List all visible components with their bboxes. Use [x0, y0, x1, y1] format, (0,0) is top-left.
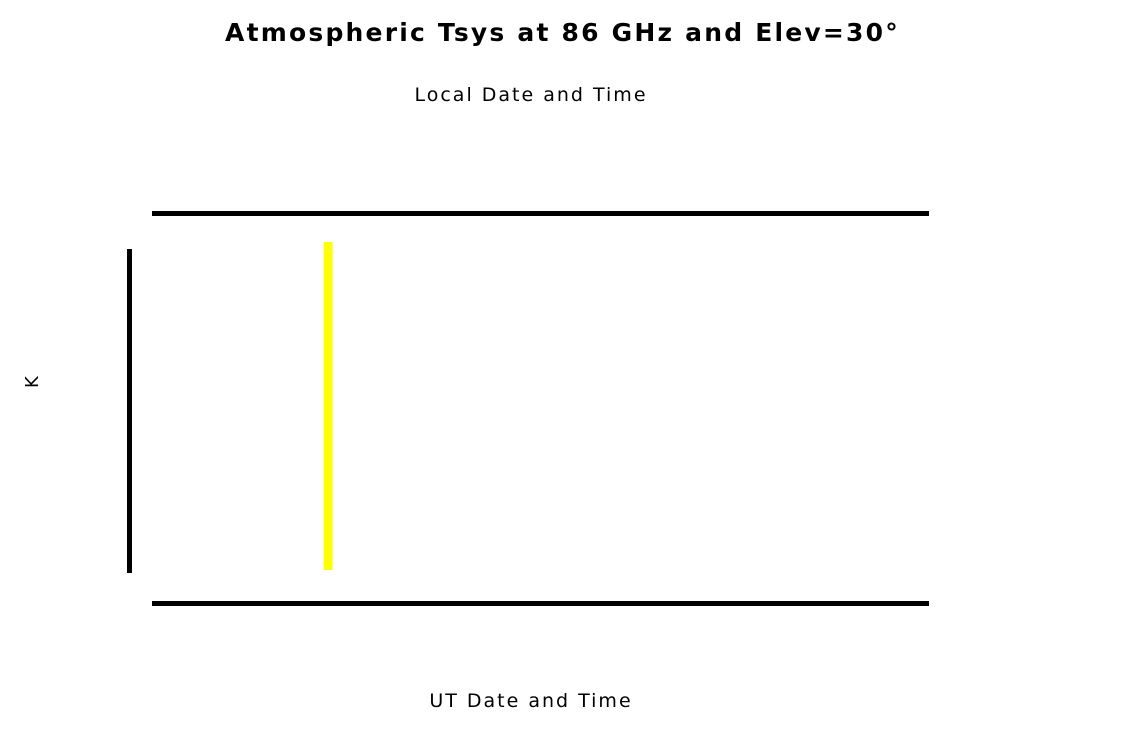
- top-axis-line: [152, 211, 929, 216]
- chart-plot-area: [0, 0, 1125, 731]
- current-time-marker: [324, 242, 333, 570]
- y-axis-line: [127, 249, 132, 573]
- bottom-axis-line: [152, 601, 929, 606]
